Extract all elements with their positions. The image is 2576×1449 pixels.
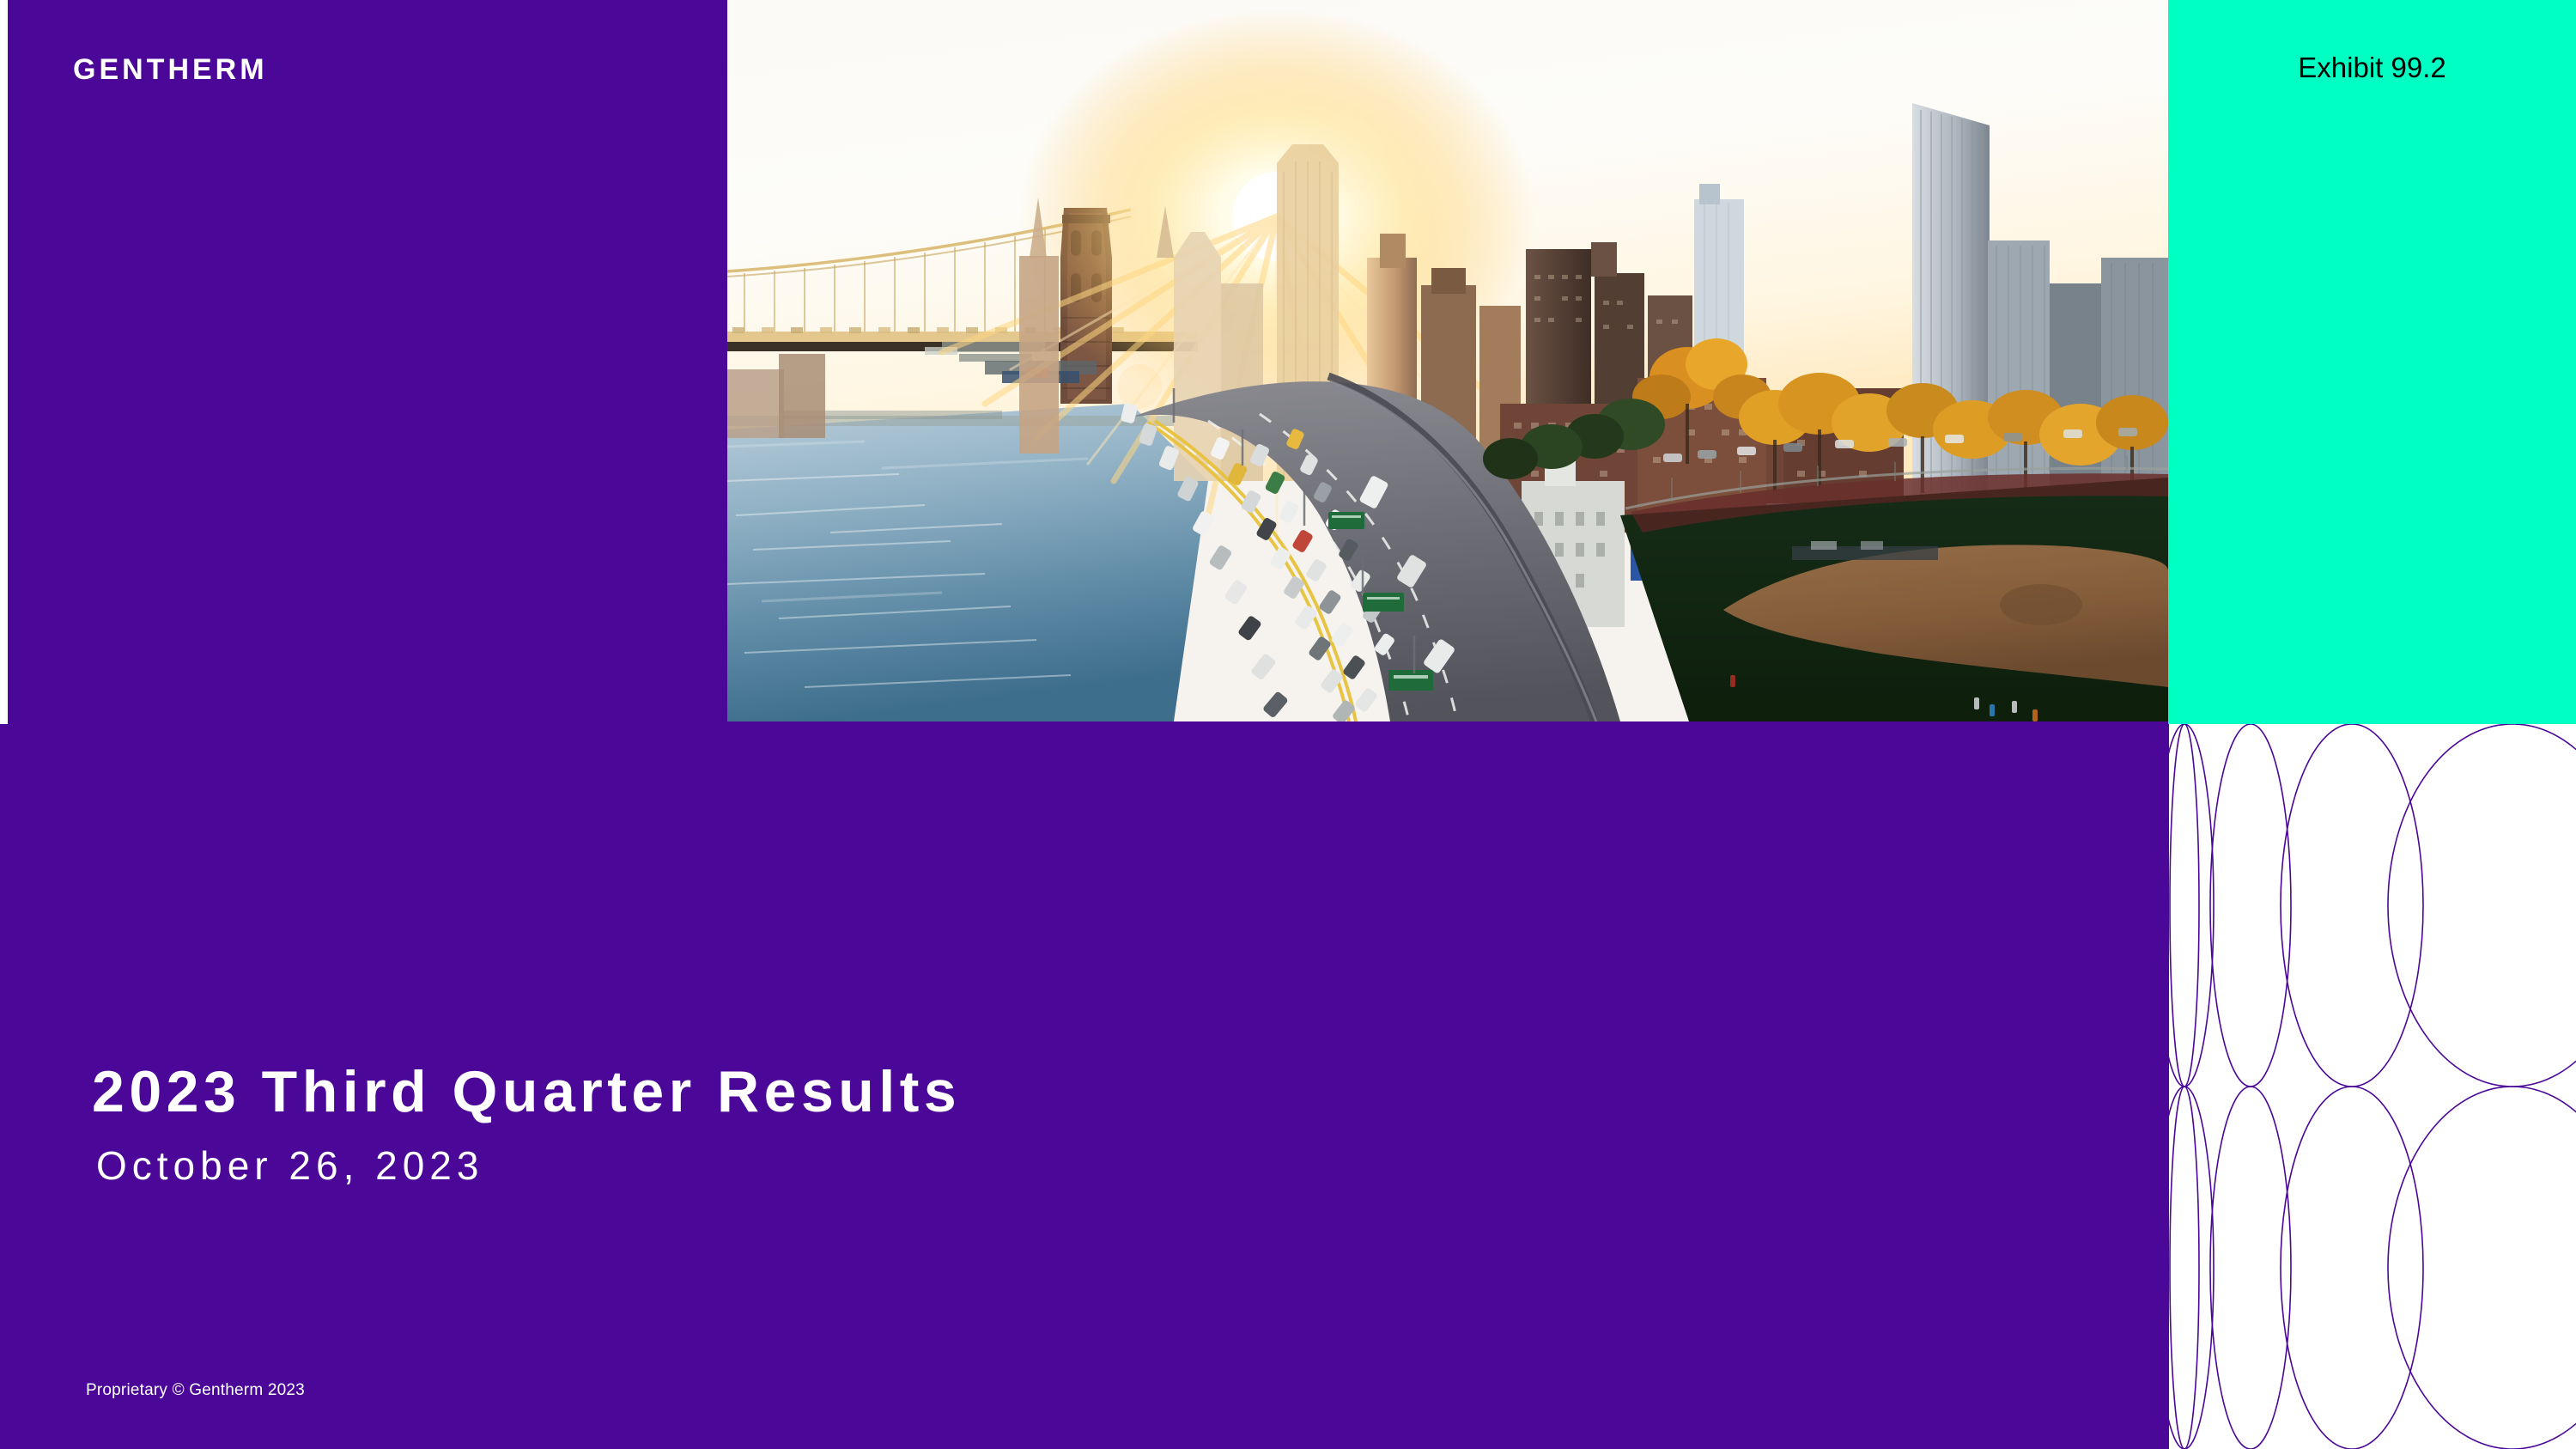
ellipse-grid-graphic — [2169, 724, 2576, 1449]
exhibit-number-label: Exhibit 99.2 — [2168, 52, 2576, 84]
ellipse-pattern-decoration — [2169, 724, 2576, 1449]
gentherm-logo: GENTHERM — [73, 53, 268, 87]
copyright-footer: Proprietary © Gentherm 2023 — [86, 1381, 305, 1400]
hero-photo — [727, 0, 2168, 721]
exhibit-banner: Exhibit 99.2 — [2168, 0, 2576, 724]
slide-date: October 26, 2023 — [96, 1142, 483, 1189]
presentation-slide: Exhibit 99.2 GENTHERM 2023 Third Quarter… — [0, 0, 2576, 1449]
left-edge-accent — [0, 0, 8, 724]
slide-title: 2023 Third Quarter Results — [92, 1058, 961, 1125]
cityscape-illustration — [727, 0, 2168, 721]
